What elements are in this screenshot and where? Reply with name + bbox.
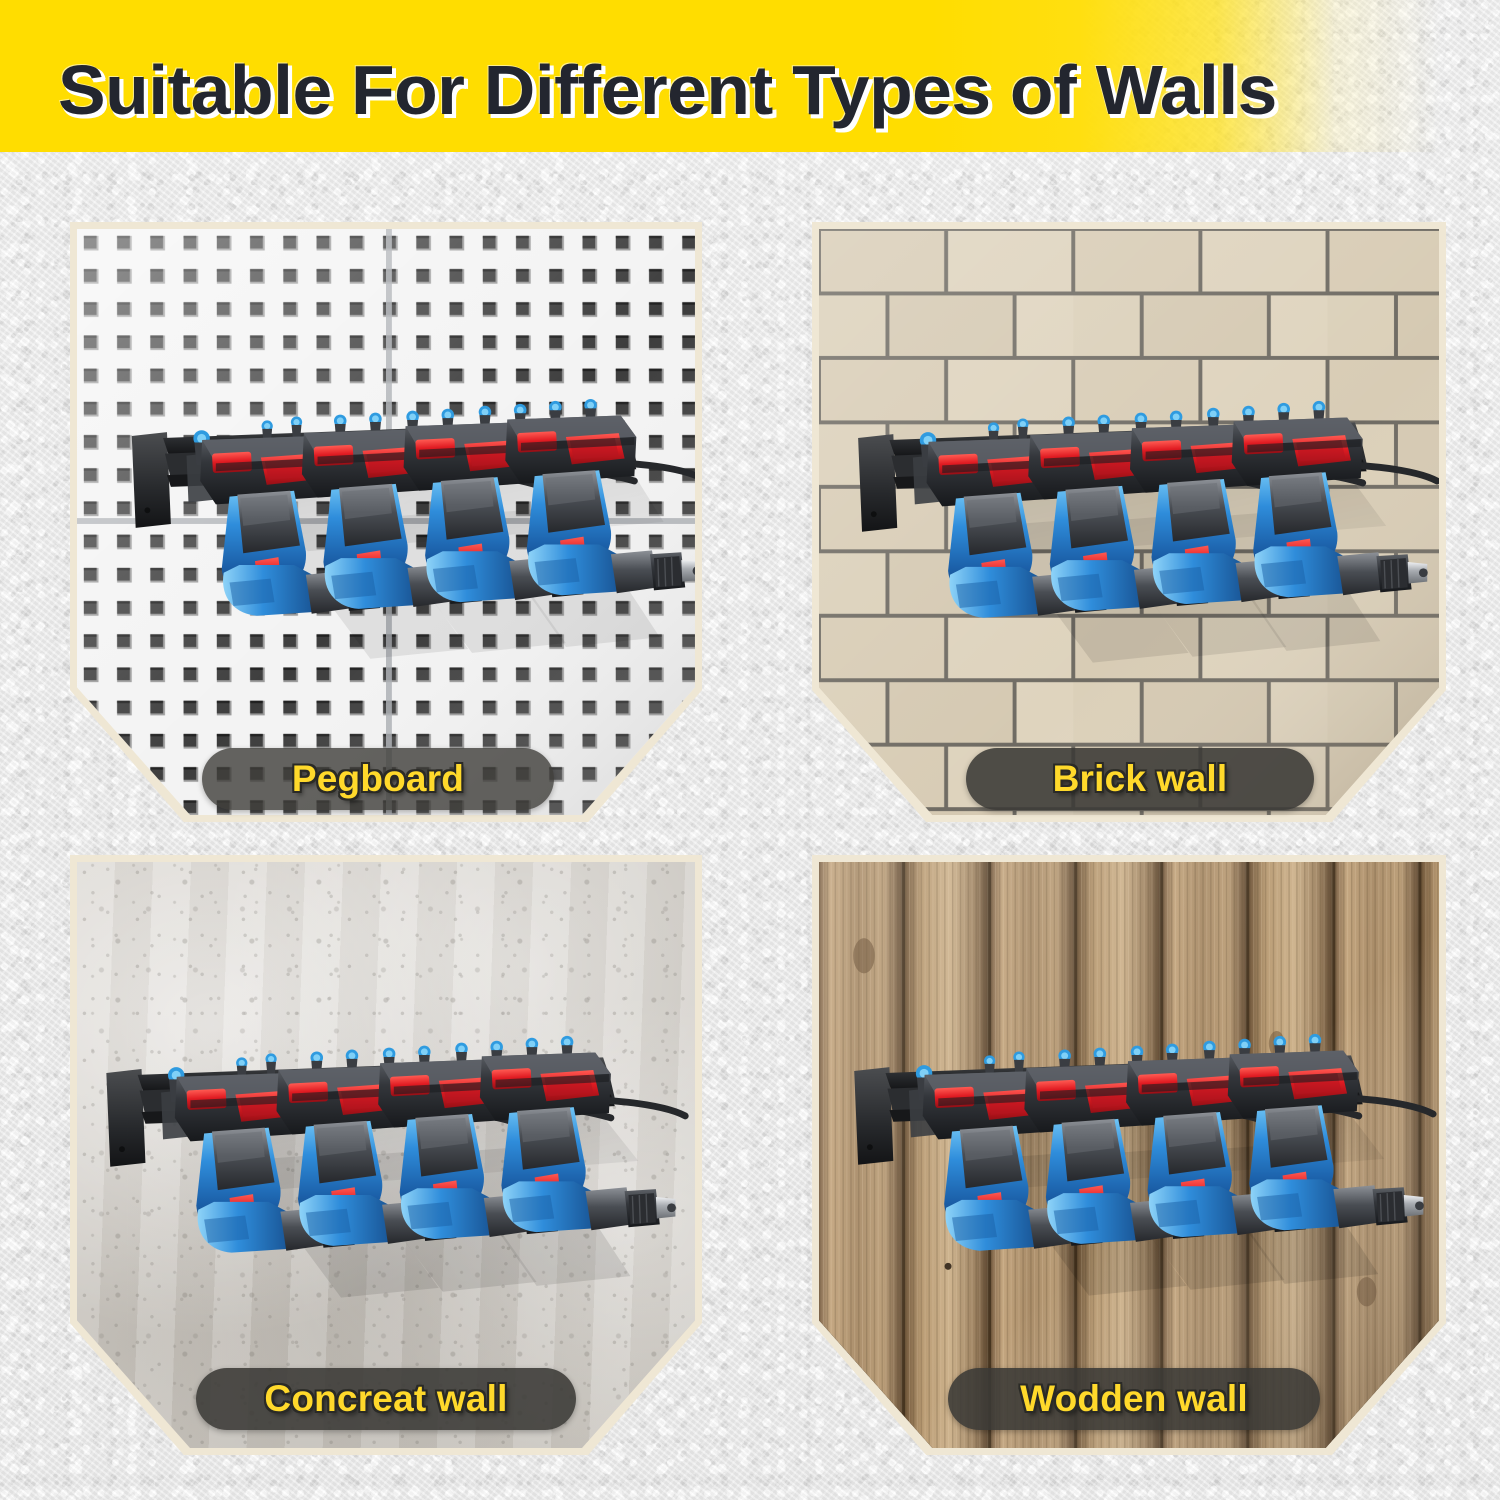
label-brick-text: Brick wall (1053, 758, 1228, 800)
panel-concrete[interactable] (70, 855, 702, 1455)
drill-4 (505, 416, 695, 596)
drill-4 (1232, 417, 1428, 597)
label-pegboard-text: Pegboard (292, 758, 464, 800)
label-wood-text: Wodden wall (1020, 1378, 1248, 1420)
panel-brick-inner (819, 229, 1439, 815)
drill-4 (1228, 1050, 1424, 1230)
drill-4 (480, 1052, 676, 1232)
panel-wood[interactable] (812, 855, 1446, 1455)
tool-rack-with-drills-brick (819, 229, 1439, 815)
label-wood: Wodden wall (948, 1368, 1320, 1430)
panel-pegboard-inner (77, 229, 695, 815)
panel-concrete-inner (77, 862, 695, 1448)
panel-pegboard[interactable] (70, 222, 702, 822)
tool-rack-with-drills-concrete (77, 862, 695, 1448)
tool-rack-with-drills-pegboard (77, 229, 695, 815)
label-pegboard: Pegboard (202, 748, 554, 810)
label-concrete-text: Concreat wall (264, 1378, 507, 1420)
panel-brick[interactable] (812, 222, 1446, 822)
label-brick: Brick wall (966, 748, 1314, 810)
label-concrete: Concreat wall (196, 1368, 576, 1430)
tool-rack-with-drills-wood (819, 862, 1439, 1448)
panel-wood-inner (819, 862, 1439, 1448)
header-banner: Suitable For Different Types of Walls (0, 0, 1500, 152)
page-title: Suitable For Different Types of Walls (58, 50, 1277, 130)
